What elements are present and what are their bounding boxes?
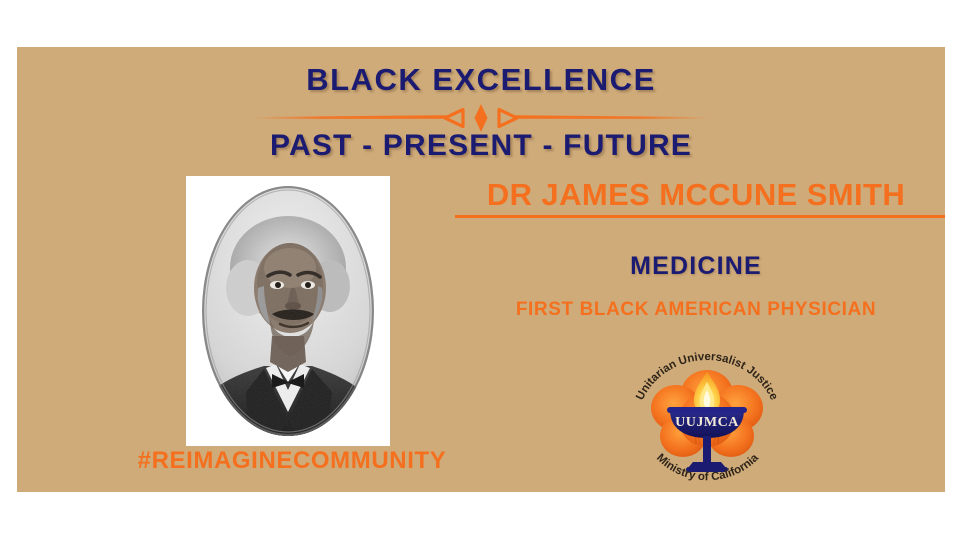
uujmca-chalice-logo-icon: UUJMCA Unitarian Universalist Justice Mi…: [620, 350, 795, 490]
page-subtitle: PAST - PRESENT - FUTURE: [17, 129, 945, 163]
diamond-ornament-divider-icon: [249, 104, 713, 132]
chalice-wordmark: UUJMCA: [675, 415, 739, 430]
content-panel: BLACK EXCELLENCE: [17, 47, 945, 492]
feature-name: DR JAMES MCCUNE SMITH: [447, 177, 945, 213]
slide-canvas: BLACK EXCELLENCE: [0, 0, 960, 540]
portrait-photo-icon: [186, 176, 390, 446]
campaign-hashtag: #REIMAGINECOMMUNITY: [102, 447, 482, 475]
feature-tagline: FIRST BLACK AMERICAN PHYSICIAN: [447, 299, 945, 321]
feature-field: MEDICINE: [447, 252, 945, 281]
feature-name-underline: [455, 215, 945, 218]
page-title: BLACK EXCELLENCE: [17, 62, 945, 98]
